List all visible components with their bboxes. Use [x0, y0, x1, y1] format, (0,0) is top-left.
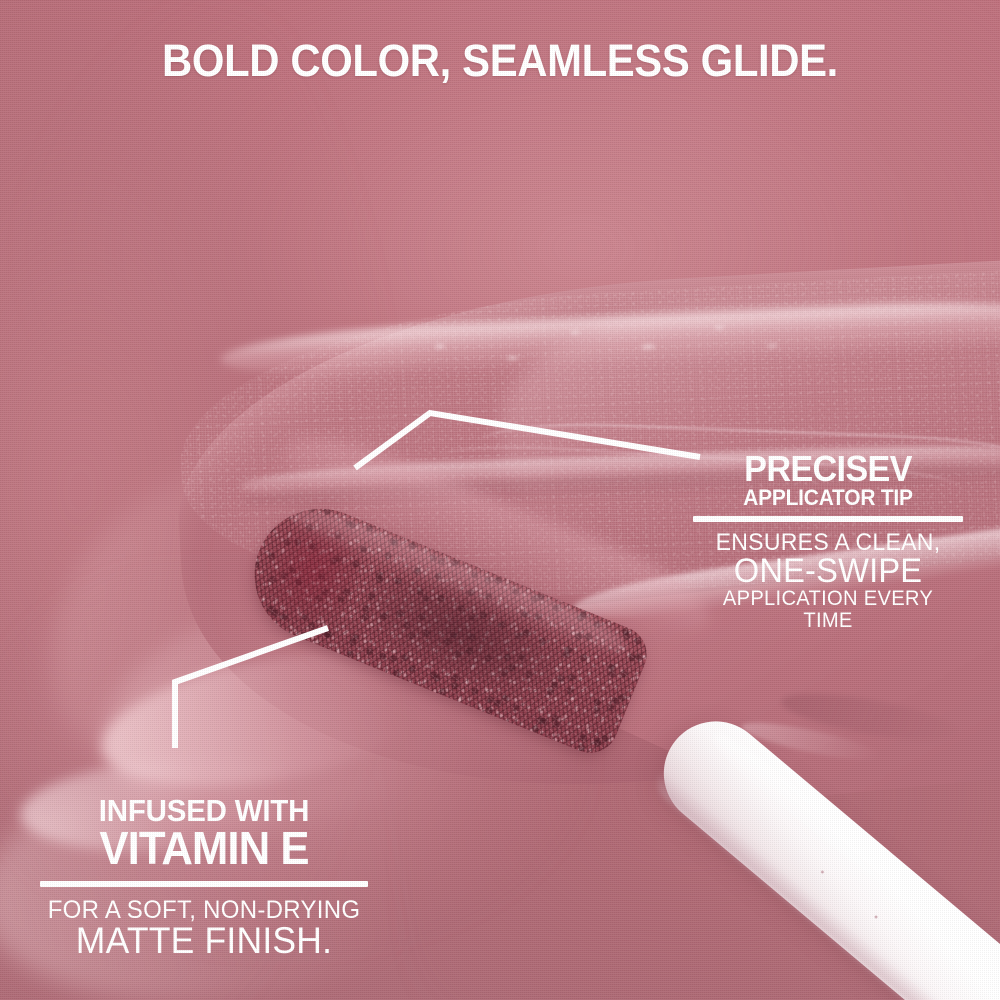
page-headline: BOLD COLOR, SEAMLESS GLIDE. — [35, 38, 965, 83]
callout-precise-divider — [693, 516, 963, 522]
callout-precise-body-line-2: ONE-SWIPE — [698, 555, 957, 588]
infographic-canvas: BOLD COLOR, SEAMLESS GLIDE. PRECISEV APP… — [0, 0, 1000, 1000]
callout-vitamin-body-line-2: MATTE FINISH. — [47, 923, 362, 959]
callout-precise-applicator-tip: PRECISEV APPLICATOR TIP ENSURES A CLEAN,… — [693, 452, 963, 631]
callout-precise-title: PRECISEV — [700, 452, 957, 487]
callout-vitamin-divider — [40, 881, 368, 887]
callout-vitamin-title: VITAMIN E — [48, 826, 360, 870]
callout-infused-with-vitamin-e: INFUSED WITH VITAMIN E FOR A SOFT, NON-D… — [40, 796, 368, 958]
callout-precise-subtitle: APPLICATOR TIP — [700, 487, 957, 509]
callout-precise-body-line-3: APPLICATION EVERY TIME — [698, 588, 957, 632]
